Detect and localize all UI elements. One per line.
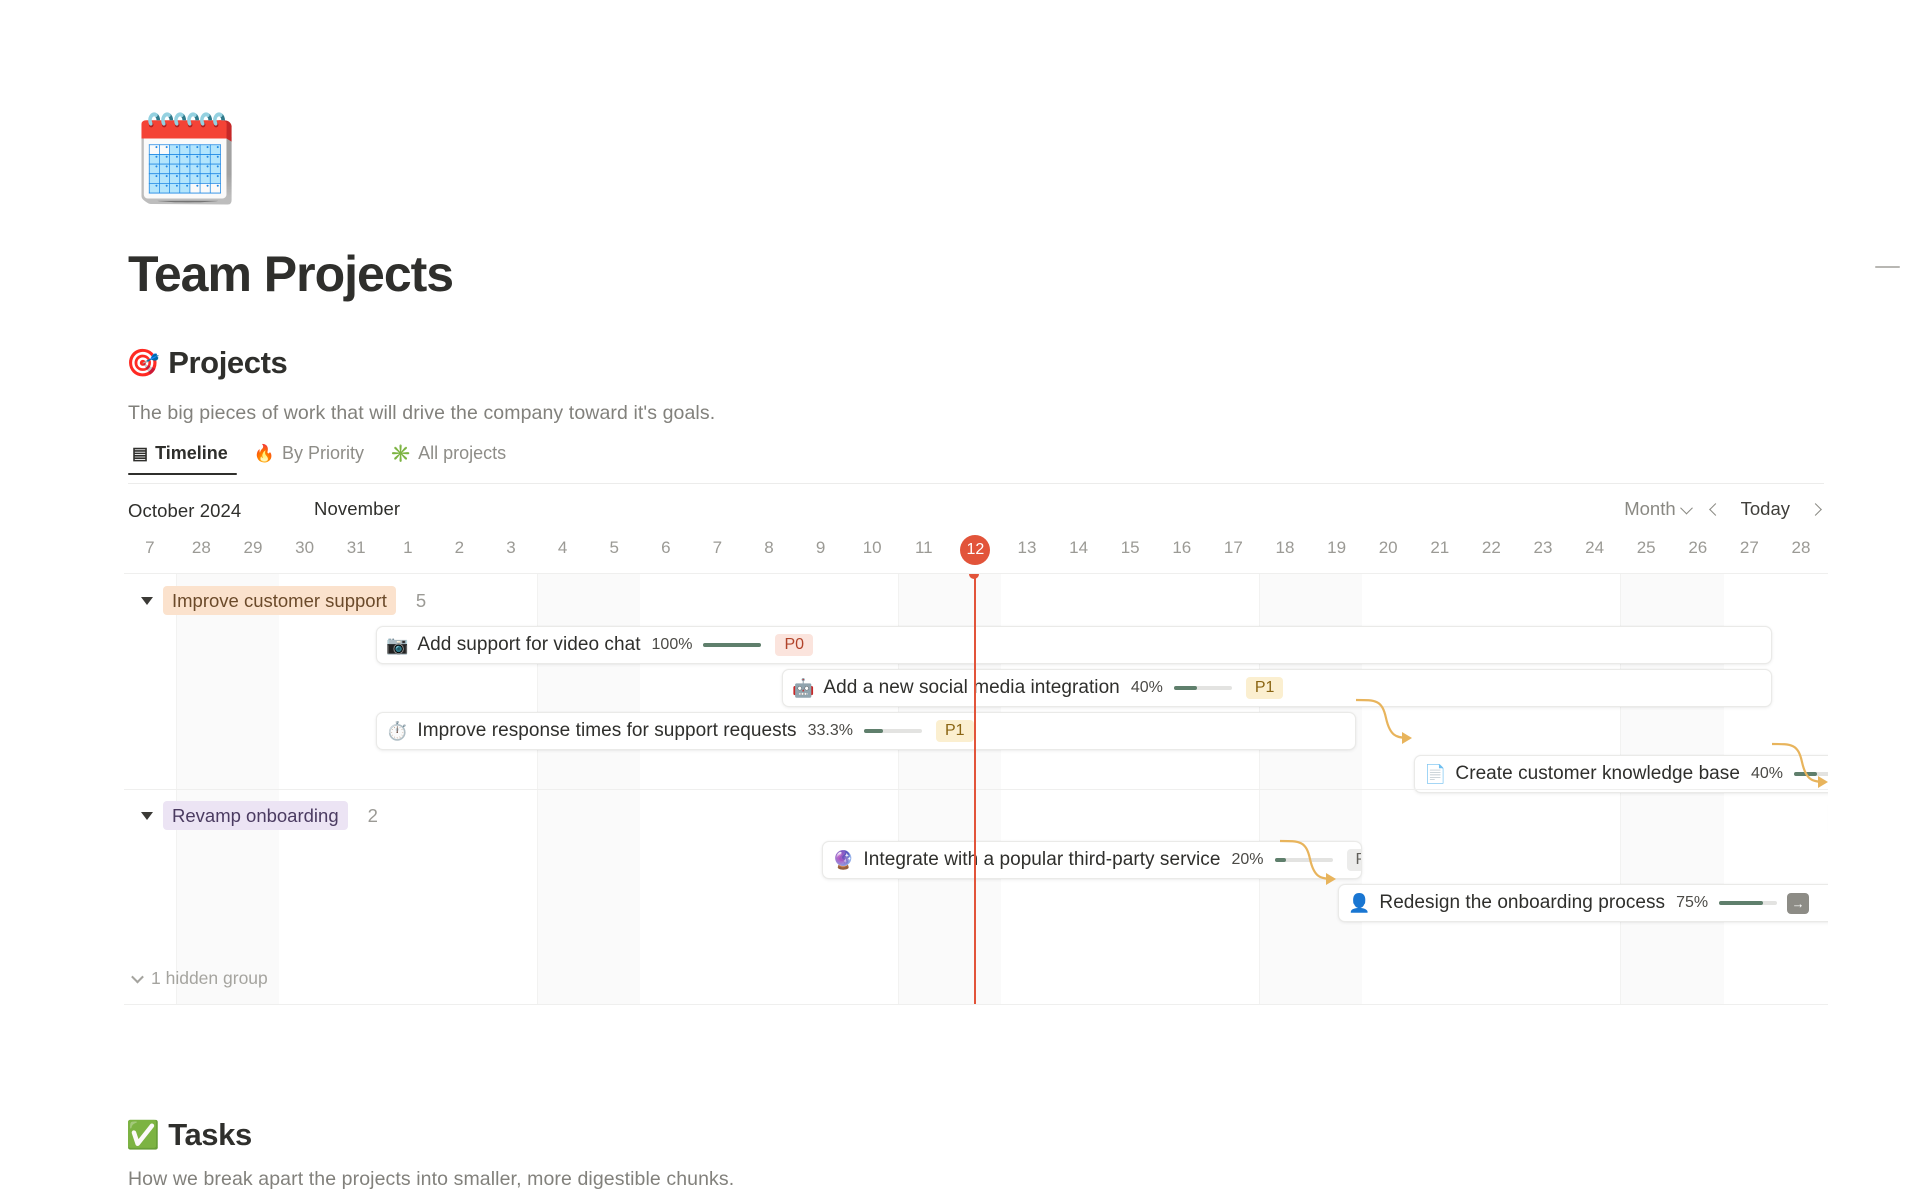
task-priority-badge: P1: [1246, 677, 1284, 699]
task-title: Create customer knowledge base: [1455, 763, 1740, 785]
date-cell-today[interactable]: 12: [946, 535, 1004, 565]
date-cell[interactable]: 15: [1101, 535, 1159, 561]
timeline-controls: Month Today: [1624, 498, 1824, 520]
task-progress-bar: [1719, 901, 1777, 905]
task-progress-percent: 33.3%: [808, 722, 853, 740]
chevron-down-icon: [131, 971, 144, 984]
checkmark-icon: ✅: [126, 1122, 159, 1149]
task-progress-percent: 40%: [1751, 765, 1783, 783]
task-progress-percent: 75%: [1676, 894, 1708, 912]
date-cell[interactable]: 9: [792, 535, 850, 561]
date-cell[interactable]: 7: [121, 535, 179, 561]
section-description-tasks: How we break apart the projects into sma…: [128, 1168, 734, 1191]
tab-all-projects-label: All projects: [418, 443, 506, 464]
date-cell[interactable]: 30: [276, 535, 334, 561]
hidden-group-label: 1 hidden group: [151, 968, 268, 989]
group-item-count: 5: [416, 590, 426, 612]
date-cell[interactable]: 6: [637, 535, 695, 561]
page-title: Team Projects: [128, 245, 453, 303]
date-cell[interactable]: 16: [1153, 535, 1211, 561]
date-cell[interactable]: 14: [1050, 535, 1108, 561]
section-title-projects: Projects: [168, 345, 287, 381]
date-cell[interactable]: 11: [895, 535, 953, 561]
date-cell[interactable]: 1: [379, 535, 437, 561]
month-label-november: November: [314, 498, 400, 520]
task-progress-bar: [703, 643, 761, 647]
date-cell[interactable]: 5: [585, 535, 643, 561]
tab-all-projects[interactable]: ✳️ All projects: [377, 443, 519, 475]
task-title: Redesign the onboarding process: [1379, 892, 1665, 914]
timeline-date-strip: 7282930311234567891011121314151617181920…: [124, 535, 1828, 565]
task-progress-bar: [864, 729, 922, 733]
target-icon: 🎯: [126, 350, 159, 377]
group-header[interactable]: Revamp onboarding2: [141, 801, 378, 830]
section-description-projects: The big pieces of work that will drive t…: [128, 402, 715, 425]
section-heading-tasks: ✅ Tasks: [126, 1117, 252, 1153]
date-cell[interactable]: 3: [482, 535, 540, 561]
date-cell[interactable]: 10: [843, 535, 901, 561]
date-cell[interactable]: 22: [1462, 535, 1520, 561]
zoom-level-label: Month: [1624, 498, 1675, 520]
timeline-task-bar[interactable]: 📷Add support for video chat100%P0: [376, 626, 1772, 664]
tab-by-priority-label: By Priority: [282, 443, 364, 464]
task-title: Add support for video chat: [417, 634, 640, 656]
date-cell[interactable]: 8: [740, 535, 798, 561]
date-cell[interactable]: 26: [1669, 535, 1727, 561]
task-progress-percent: 40%: [1131, 679, 1163, 697]
view-tabs: ▤ Timeline 🔥 By Priority ✳️ All projects: [128, 443, 1824, 484]
hidden-group-toggle[interactable]: 1 hidden group: [133, 968, 268, 989]
asterisk-icon: ✳️: [390, 445, 411, 462]
date-cell[interactable]: 29: [224, 535, 282, 561]
task-emoji-icon: ⏱️: [386, 722, 408, 740]
date-cell[interactable]: 24: [1566, 535, 1624, 561]
tab-timeline[interactable]: ▤ Timeline: [128, 443, 241, 475]
task-emoji-icon: 📷: [386, 636, 408, 654]
date-cell[interactable]: 28: [172, 535, 230, 561]
tab-timeline-label: Timeline: [155, 443, 228, 464]
date-cell[interactable]: 31: [327, 535, 385, 561]
task-emoji-icon: 📄: [1424, 765, 1446, 783]
group-header[interactable]: Improve customer support5: [141, 586, 426, 615]
date-cell[interactable]: 7: [688, 535, 746, 561]
next-period-button[interactable]: [1806, 500, 1824, 518]
date-cell[interactable]: 17: [1204, 535, 1262, 561]
caret-down-icon[interactable]: [141, 597, 153, 605]
timeline-task-bar[interactable]: ⏱️Improve response times for support req…: [376, 712, 1356, 750]
today-pill: 12: [960, 535, 990, 565]
date-cell[interactable]: 2: [430, 535, 488, 561]
group-divider: [124, 789, 1828, 790]
page-icon[interactable]: 🗓️: [133, 108, 238, 213]
group-name-chip: Revamp onboarding: [163, 801, 348, 830]
section-heading-projects: 🎯 Projects: [126, 345, 287, 381]
date-cell[interactable]: 28: [1772, 535, 1830, 561]
today-button[interactable]: Today: [1741, 498, 1790, 520]
task-priority-badge: P2: [1347, 849, 1363, 871]
group-item-count: 2: [368, 805, 378, 827]
task-progress-percent: 20%: [1231, 851, 1263, 869]
group-name-chip: Improve customer support: [163, 586, 396, 615]
date-cell[interactable]: 18: [1256, 535, 1314, 561]
task-emoji-icon: 🔮: [832, 851, 854, 869]
timeline-task-bar[interactable]: 🤖Add a new social media integration40%P1: [782, 669, 1772, 707]
date-cell[interactable]: 20: [1359, 535, 1417, 561]
chevron-down-icon: [1680, 501, 1693, 514]
timeline-grid[interactable]: Improve customer support5📷Add support fo…: [124, 573, 1828, 1005]
task-progress-percent: 100%: [652, 636, 693, 654]
zoom-level-selector[interactable]: Month: [1624, 498, 1690, 520]
notion-page: 🗓️ Team Projects 🎯 Projects The big piec…: [0, 0, 1920, 1199]
task-progress-bar: [1275, 858, 1333, 862]
timeline-toolbar: October 2024 November Month Today: [128, 496, 1824, 534]
date-cell[interactable]: 25: [1617, 535, 1675, 561]
date-cell[interactable]: 13: [998, 535, 1056, 561]
task-emoji-icon: 🤖: [792, 679, 814, 697]
date-cell[interactable]: 27: [1720, 535, 1778, 561]
timeline-task-bar[interactable]: 📄Create customer knowledge base40%P1: [1414, 755, 1828, 793]
task-title: Integrate with a popular third-party ser…: [863, 849, 1220, 871]
caret-down-icon[interactable]: [141, 812, 153, 820]
timeline-task-bar[interactable]: 👤Redesign the onboarding process75%→: [1338, 884, 1828, 922]
task-priority-badge: P1: [936, 720, 974, 742]
fire-icon: 🔥: [254, 445, 275, 462]
tab-by-priority[interactable]: 🔥 By Priority: [241, 443, 377, 475]
task-emoji-icon: 👤: [1348, 894, 1370, 912]
section-title-tasks: Tasks: [168, 1117, 252, 1153]
task-progress-bar: [1174, 686, 1232, 690]
task-priority-badge: P0: [775, 634, 813, 656]
task-title: Add a new social media integration: [823, 677, 1119, 699]
task-arrow-badge-icon: →: [1787, 893, 1809, 914]
month-label-october: October 2024: [128, 500, 241, 522]
collapse-handle[interactable]: [1875, 266, 1900, 268]
today-marker-line: [974, 574, 976, 1004]
date-cell[interactable]: 19: [1308, 535, 1366, 561]
timeline-task-bar[interactable]: 🔮Integrate with a popular third-party se…: [822, 841, 1362, 879]
timeline-icon: ▤: [132, 445, 148, 462]
date-cell[interactable]: 21: [1411, 535, 1469, 561]
task-title: Improve response times for support reque…: [417, 720, 796, 742]
date-cell[interactable]: 4: [534, 535, 592, 561]
date-cell[interactable]: 23: [1514, 535, 1572, 561]
prev-period-button[interactable]: [1707, 500, 1725, 518]
task-progress-bar: [1794, 772, 1828, 776]
